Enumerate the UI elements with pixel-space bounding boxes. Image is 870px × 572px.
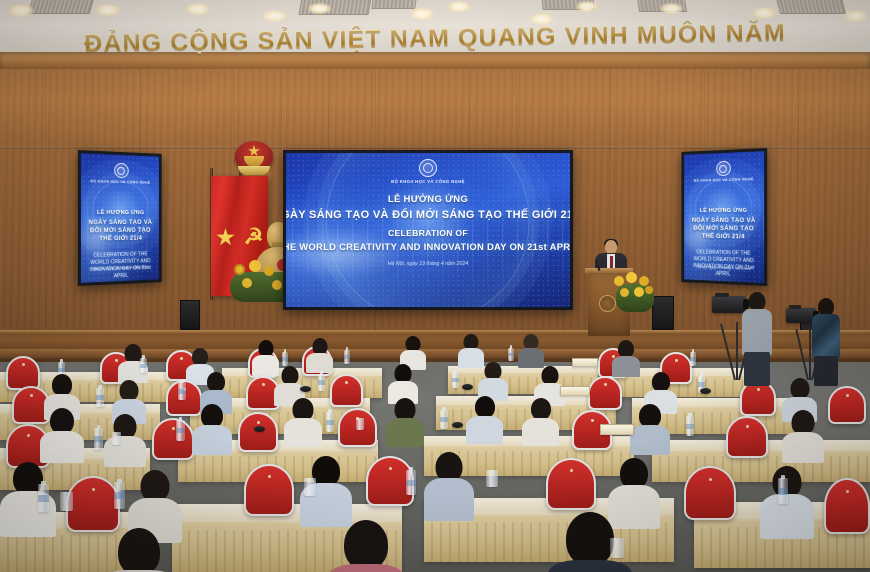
red-chair[interactable] [588,376,622,410]
person-head [652,372,670,392]
camera-operator-1 [742,292,772,384]
ministry-emblem-icon [114,163,129,178]
audience-member [192,404,232,454]
water-bottle [176,420,185,441]
ministry-logo: BỘ KHOA HỌC VÀ CÔNG NGHỆ [391,159,465,184]
led-screen-main: BỘ KHOA HỌC VÀ CÔNG NGHỆ LỄ HƯỞNG ỨNG NG… [283,150,573,310]
drinking-glass [112,432,121,445]
water-bottle [114,482,125,509]
audience-member-foreground [328,520,404,572]
recessed-downlight [660,3,683,14]
person-body [306,353,333,373]
person-body [386,418,424,447]
person-body [812,314,840,358]
person-head [566,512,614,566]
name-plate [560,386,590,396]
audience-member [306,338,333,371]
headset-receiver[interactable] [452,422,463,428]
person-body [630,425,670,455]
ministry-name: BỘ KHOA HỌC VÀ CÔNG NGHỆ [694,177,754,183]
drinking-glass [60,492,73,511]
audience-member [388,364,418,402]
drinking-glass [356,418,364,430]
audience-member-foreground [100,528,178,572]
drinking-glass [610,538,624,558]
red-chair[interactable] [330,374,363,407]
red-chair[interactable] [152,418,194,460]
audience-member [782,410,824,462]
audience-member [424,452,474,520]
name-plate [572,358,598,367]
stage-speaker-left [180,300,200,330]
water-bottle [452,372,459,388]
led-screen-left: BỘ KHOA HỌC VÀ CÔNG NGHỆ LỄ HƯỞNG ỨNG NG… [78,150,162,286]
screen-date: Hà Nội, ngày 19 tháng 4 năm 2024 [388,261,468,267]
recessed-downlight [308,3,331,14]
recessed-downlight [8,4,34,17]
water-bottle [178,382,186,400]
screen-line-1: LỄ HƯỞNG ỨNG [700,208,747,214]
person-body [782,432,824,463]
screen-line-1: LỄ HƯỞNG ỨNG [97,210,144,216]
camera-operator-2 [812,298,840,384]
water-bottle [686,416,694,436]
water-bottle [778,478,788,504]
camera-viewfinder-icon [789,305,801,309]
recessed-downlight [186,3,210,15]
person-body [466,416,503,444]
camera-viewfinder-icon [715,293,729,297]
person-body [522,418,559,446]
water-bottle [282,352,288,366]
recessed-downlight [262,10,287,22]
audience-member [478,362,508,400]
headset-receiver[interactable] [700,388,711,394]
person-head [118,528,160,572]
person-body [328,564,404,572]
red-chair[interactable] [6,356,40,390]
person-head [120,380,139,401]
ministry-emblem-icon [419,159,437,177]
person-body [612,356,640,377]
person-legs [744,352,770,386]
red-chair[interactable] [66,476,120,532]
red-chair[interactable] [684,466,736,520]
screen-line-1: LỄ HƯỞNG ỨNG [388,194,468,205]
water-bottle [38,484,49,512]
water-bottle [440,410,448,429]
red-chair[interactable] [824,478,870,534]
water-bottle [318,374,325,391]
audience-member [386,398,424,446]
person-head [790,378,809,399]
audience-member [466,396,503,443]
recessed-downlight [410,8,434,20]
red-chair[interactable] [238,412,278,452]
person-body [192,425,232,455]
ministry-logo: BỘ KHOA HỌC VÀ CÔNG NGHỆ [694,160,754,183]
person-head [207,372,225,392]
person-head [475,396,495,418]
audience-member [518,334,544,366]
drinking-glass [486,470,498,487]
screen-line-2: NGÀY SÁNG TẠO VÀ ĐỔI MỚI SÁNG TẠO THẾ GI… [81,219,159,244]
screen-line-4: THE WORLD CREATIVITY AND INNOVATION DAY … [283,241,573,252]
red-chair[interactable] [546,458,596,510]
drinking-glass [304,478,316,496]
water-bottle [326,412,334,432]
emblem-ribbon [238,166,270,175]
ministry-logo: BỘ KHOA HỌC VÀ CÔNG NGHỆ [90,162,150,185]
recessed-downlight [96,4,120,16]
audience-member [40,408,84,462]
person-head [531,398,551,420]
conference-hall-photo: ĐẢNG CỘNG SẢN VIỆT NAM QUANG VINH MUÔN N… [0,0,870,572]
video-camcorder-1 [712,296,746,313]
hvac-vent [371,0,417,9]
audience-member [104,414,146,466]
sunflower-arrangement [612,272,656,314]
recessed-downlight [844,10,868,22]
ministry-name: BỘ KHOA HỌC VÀ CÔNG NGHỆ [391,179,465,184]
speaker-head [605,240,617,254]
person-head [52,374,72,396]
person-body [548,560,632,572]
person-body [518,348,544,368]
audience-member [522,398,559,445]
headset-receiver[interactable] [462,384,473,390]
recessed-downlight [752,7,776,19]
hvac-vent [776,0,846,14]
screen-line-3: CELEBRATION OF [388,228,468,238]
person-head [344,520,388,570]
red-chair[interactable] [726,416,768,458]
person-body [424,478,474,521]
name-plate [600,424,634,435]
red-chair[interactable] [244,464,294,516]
hvac-vent [28,0,95,14]
water-bottle [406,470,416,495]
ministry-emblem-icon [716,161,731,176]
recessed-downlight [576,1,598,12]
water-bottle [508,348,514,361]
person-body [40,431,84,463]
water-bottle [690,352,696,366]
audience-member [630,404,670,454]
vietnam-national-emblem-icon [233,141,275,179]
person-body [104,436,146,467]
water-bottle [344,350,350,364]
screen-line-2: NGÀY SÁNG TẠO VÀ ĐỔI MỚI SÁNG TẠO THẾ GI… [283,209,573,221]
water-bottle [94,428,103,450]
audience-member [612,340,640,374]
audience-member [284,398,322,446]
person-body [742,309,772,355]
recessed-downlight [448,1,470,12]
led-screen-right: BỘ KHOA HỌC VÀ CÔNG NGHỆ LỄ HƯỞNG ỨNG NG… [681,148,767,286]
person-legs [814,356,838,386]
person-body [284,418,322,447]
flag-star-icon [216,228,235,247]
headset-receiver[interactable] [300,386,311,392]
headset-receiver[interactable] [254,426,265,432]
water-bottle [140,358,147,373]
screen-line-2: NGÀY SÁNG TẠO VÀ ĐỔI MỚI SÁNG TẠO THẾ GI… [684,217,764,242]
ministry-name: BỘ KHOA HỌC VÀ CÔNG NGHỆ [90,179,150,185]
red-chair[interactable] [828,386,866,424]
water-bottle [96,388,104,407]
